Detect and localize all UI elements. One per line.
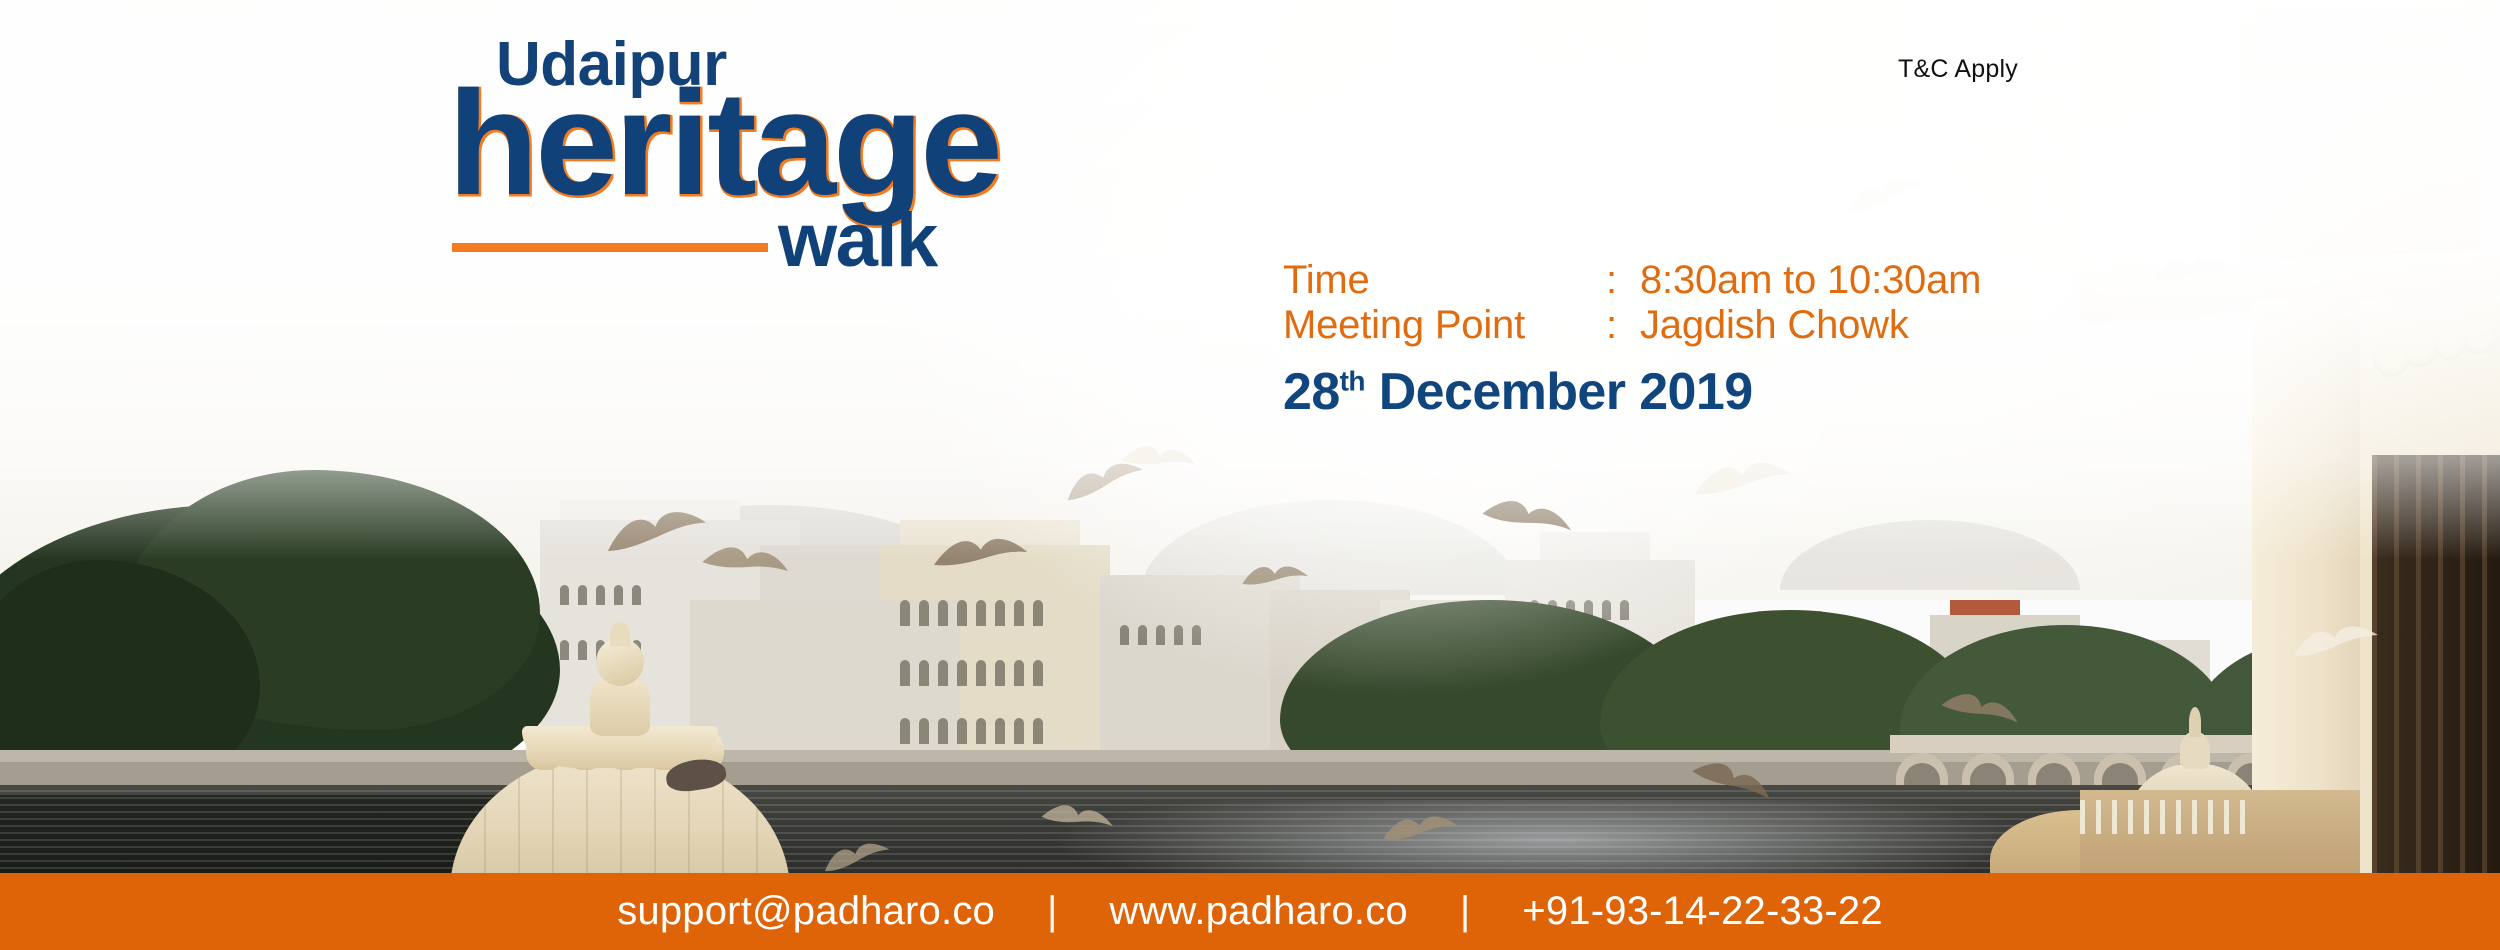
detail-row-time: Time : 8:30am to 10:30am	[1283, 258, 2283, 303]
event-logo: Udaipur heritage heritage walk	[448, 18, 1268, 348]
logo-line-heritage: heritage	[448, 70, 1000, 218]
temple-door-bars	[2372, 455, 2500, 900]
detail-row-meeting-point: Meeting Point : Jagdish Chowk	[1283, 303, 2283, 348]
footer-phone[interactable]: +91-93-14-22-33-22	[1470, 889, 1935, 934]
haveli-windows	[1120, 625, 1201, 645]
terms-and-conditions-note: T&C Apply	[1898, 55, 2018, 84]
event-date: 28th December 2019	[1283, 362, 2283, 422]
haveli-windows	[560, 585, 641, 605]
footer-separator: |	[1047, 889, 1057, 934]
time-value: 8:30am to 10:30am	[1640, 258, 1981, 303]
meeting-point-value: Jagdish Chowk	[1640, 303, 1909, 348]
dome-finial	[610, 622, 630, 646]
fence	[2080, 800, 2250, 834]
event-details: Time : 8:30am to 10:30am Meeting Point :…	[1283, 258, 2283, 422]
event-date-suffix: th	[1340, 365, 1365, 396]
heritage-walk-banner: Udaipur heritage heritage walk T&C Apply…	[0, 0, 2500, 950]
logo-line-walk: walk	[778, 203, 937, 279]
scalloped-arch	[2350, 320, 2500, 380]
temple-spire	[2240, 0, 2480, 270]
meeting-point-colon: :	[1606, 303, 1640, 348]
temple-tier	[2260, 10, 2460, 28]
contact-footer-items: support@padharo.co | www.padharo.co | +9…	[565, 889, 1935, 934]
foreground-temple-dome	[430, 630, 810, 900]
event-date-month-year: December 2019	[1365, 363, 1753, 421]
footer-separator: |	[1460, 889, 1470, 934]
haveli-windows	[900, 660, 1043, 686]
time-label: Time	[1283, 258, 1606, 303]
logo-orange-rule	[452, 243, 768, 252]
haveli-windows	[900, 718, 1043, 744]
time-colon: :	[1606, 258, 1640, 303]
contact-footer-bar: support@padharo.co | www.padharo.co | +9…	[0, 873, 2500, 950]
event-date-day: 28	[1283, 363, 1340, 421]
footer-website[interactable]: www.padharo.co	[1057, 889, 1460, 934]
meeting-point-label: Meeting Point	[1283, 303, 1606, 348]
footer-email[interactable]: support@padharo.co	[565, 889, 1047, 934]
haveli-windows	[900, 600, 1043, 626]
right-temple-structure	[2080, 0, 2500, 900]
